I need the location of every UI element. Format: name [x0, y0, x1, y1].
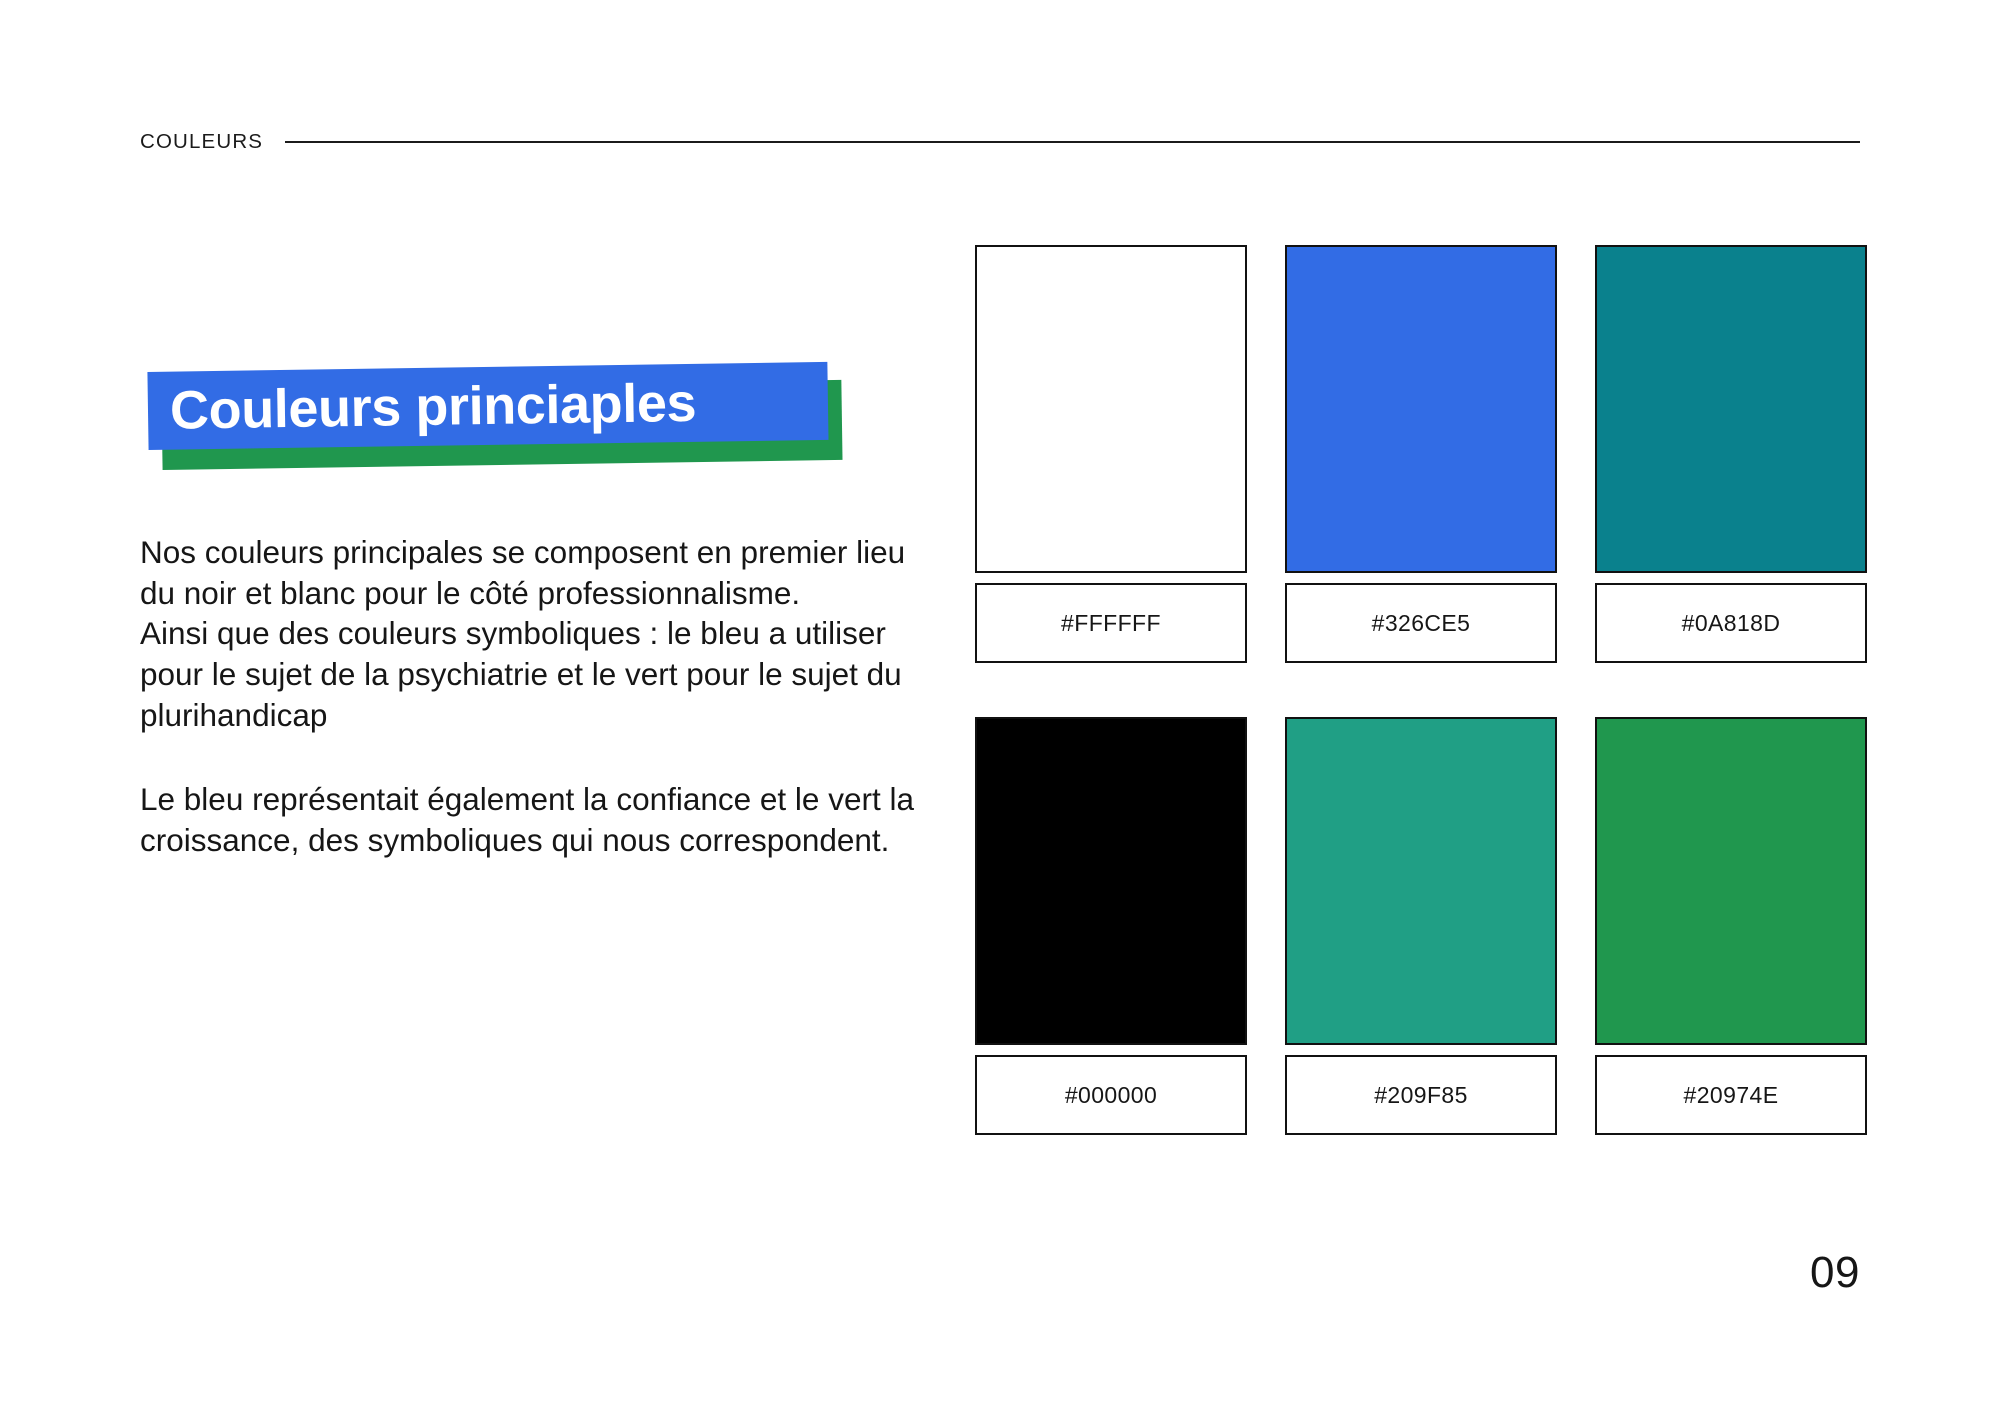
color-swatch-grid: #FFFFFF #326CE5 #0A818D #000000 #209F85 … — [975, 245, 1895, 1135]
color-chip[interactable] — [975, 717, 1247, 1045]
color-chip[interactable] — [1595, 717, 1867, 1045]
page-title: Couleurs princiaples — [148, 376, 697, 438]
color-chip[interactable] — [975, 245, 1247, 573]
title-banner: Couleurs princiaples — [140, 360, 840, 470]
color-chip[interactable] — [1595, 245, 1867, 573]
left-content-column: Couleurs princiaples Nos couleurs princi… — [140, 360, 920, 892]
color-swatch-item[interactable]: #326CE5 — [1285, 245, 1557, 663]
color-swatch-item[interactable]: #0A818D — [1595, 245, 1867, 663]
page-number: 09 — [1810, 1248, 1860, 1298]
title-banner-primary-shape: Couleurs princiaples — [147, 362, 828, 450]
color-hex-label-box: #0A818D — [1595, 583, 1867, 663]
color-swatch-item[interactable]: #20974E — [1595, 717, 1867, 1135]
header-rule — [285, 141, 1860, 143]
color-hex-label-box: #326CE5 — [1285, 583, 1557, 663]
color-hex-label: #209F85 — [1374, 1082, 1468, 1109]
eyebrow-label: COULEURS — [140, 130, 263, 154]
color-swatch-item[interactable]: #000000 — [975, 717, 1247, 1135]
color-hex-label: #FFFFFF — [1061, 610, 1161, 637]
color-swatch-item[interactable]: #FFFFFF — [975, 245, 1247, 663]
color-hex-label: #0A818D — [1682, 610, 1781, 637]
body-paragraph-two: Le bleu représentait également la confia… — [140, 779, 920, 860]
color-hex-label-box: #209F85 — [1285, 1055, 1557, 1135]
color-chip[interactable] — [1285, 717, 1557, 1045]
color-hex-label-box: #20974E — [1595, 1055, 1867, 1135]
color-hex-label: #000000 — [1065, 1082, 1157, 1109]
color-swatch-item[interactable]: #209F85 — [1285, 717, 1557, 1135]
color-hex-label: #326CE5 — [1372, 610, 1471, 637]
color-hex-label-box: #000000 — [975, 1055, 1247, 1135]
color-hex-label-box: #FFFFFF — [975, 583, 1247, 663]
page-header: COULEURS — [140, 122, 1860, 162]
color-chip[interactable] — [1285, 245, 1557, 573]
body-paragraph-one: Nos couleurs principales se composent en… — [140, 532, 920, 735]
color-hex-label: #20974E — [1684, 1082, 1779, 1109]
